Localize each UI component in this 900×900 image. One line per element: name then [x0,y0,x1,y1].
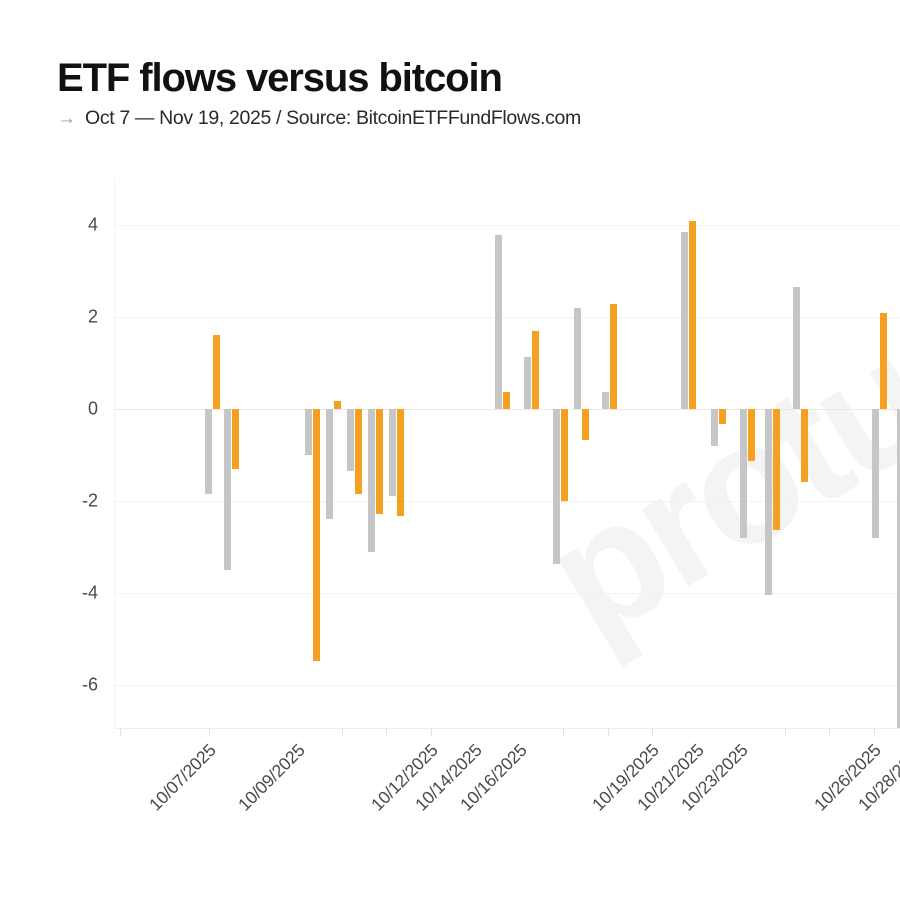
x-tick-mark [431,729,432,736]
y-tick-label: 2 [52,307,98,328]
bar-flows [681,232,688,409]
y-tick-label: -6 [52,675,98,696]
x-tick-mark [563,729,564,736]
bar-flows [602,392,609,409]
bars-layer [114,179,900,728]
page-title: ETF flows versus bitcoin [57,56,877,100]
x-tick-mark [874,729,875,736]
bar-flows [305,409,312,455]
x-tick-mark [209,729,210,736]
bar-price [334,401,341,409]
y-tick-label: 4 [52,215,98,236]
x-tick-mark [785,729,786,736]
bar-flows [765,409,772,595]
bar-flows [347,409,354,471]
bar-flows [872,409,879,538]
bar-price [773,409,780,530]
bar-price [582,409,589,440]
bar-flows [389,409,396,496]
arrow-right-icon: → [57,109,76,129]
bar-price [503,392,510,409]
bar-price [213,335,220,409]
x-tick-mark [608,729,609,736]
x-tick-mark [120,729,121,736]
bar-price [532,331,539,409]
bar-price [880,313,887,409]
bar-flows [495,235,502,409]
chart-figure: ETF flows versus bitcoin → Oct 7 — Nov 1… [0,0,900,900]
bar-price [355,409,362,494]
chart-header: ETF flows versus bitcoin → Oct 7 — Nov 1… [57,56,877,129]
x-tick-label: 10/09/2025 [234,740,309,815]
bar-flows [368,409,375,552]
bar-price [397,409,404,516]
x-axis-tick-labels: 10/07/202510/09/202510/12/202510/14/2025… [114,729,900,900]
bar-flows [553,409,560,564]
bar-price [561,409,568,501]
chart-subtitle: Oct 7 — Nov 19, 2025 / Source: BitcoinET… [85,107,581,129]
bar-price [748,409,755,461]
bar-price [313,409,320,661]
x-tick-mark [652,729,653,736]
bar-flows [205,409,212,494]
y-tick-label: -4 [52,583,98,604]
bar-price [801,409,808,482]
y-tick-label: 0 [52,399,98,420]
plot-area: protu [114,179,900,728]
x-tick-mark [829,729,830,736]
bar-flows [224,409,231,570]
bar-flows [711,409,718,446]
x-tick-mark [342,729,343,736]
bar-price [610,304,617,409]
bar-flows [793,287,800,409]
y-tick-label: -2 [52,491,98,512]
chart-subtitle-row: → Oct 7 — Nov 19, 2025 / Source: Bitcoin… [57,107,877,129]
x-tick-label: 10/07/2025 [145,740,220,815]
bar-price [232,409,239,469]
bar-flows [326,409,333,519]
y-axis-tick-labels: 420-2-4-6 [46,179,98,728]
bar-flows [524,357,531,409]
x-tick-mark [386,729,387,736]
bar-price [376,409,383,514]
bar-price [689,221,696,409]
bar-flows [574,308,581,409]
bar-flows [740,409,747,538]
bar-price [719,409,726,424]
